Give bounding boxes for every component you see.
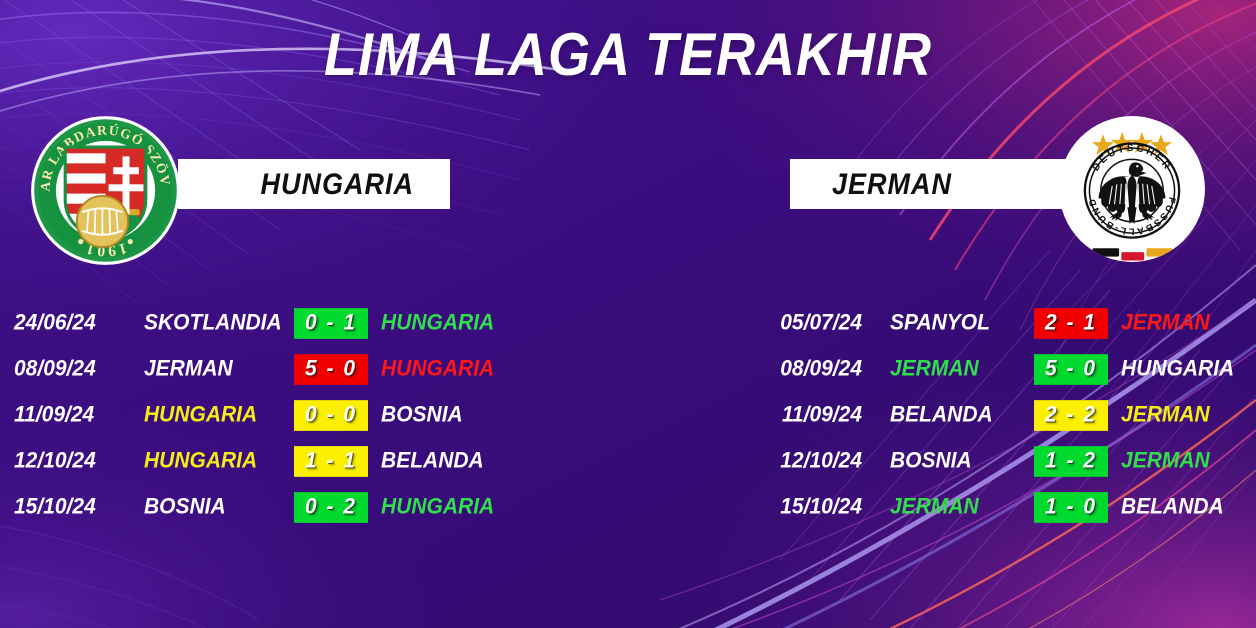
away-team: BELANDA (1108, 494, 1224, 519)
away-team: JERMAN (1108, 448, 1210, 473)
home-team: JERMAN (130, 356, 294, 381)
match-row: 12/10/24 HUNGARIA 1 - 1 BELANDA (14, 438, 574, 484)
match-list-left: 24/06/24 SKOTLANDIA 0 - 1 HUNGARIA 08/09… (14, 300, 574, 530)
match-row: 11/09/24 HUNGARIA 0 - 0 BOSNIA (14, 392, 574, 438)
score-badge: 5 - 0 (1034, 354, 1108, 385)
page-title: LIMA LAGA TERAKHIR (0, 20, 1256, 89)
away-team: BELANDA (368, 448, 484, 473)
away-team: BOSNIA (368, 402, 463, 427)
match-date: 08/09/24 (14, 356, 130, 381)
match-row: 15/10/24 BOSNIA 0 - 2 HUNGARIA (14, 484, 574, 530)
home-team: HUNGARIA (130, 448, 294, 473)
team-banner-left: HUNGARIA (178, 159, 450, 209)
home-team: JERMAN (876, 356, 1034, 381)
away-team: HUNGARIA (368, 356, 494, 381)
match-date: 11/09/24 (760, 402, 876, 427)
match-row: 24/06/24 SKOTLANDIA 0 - 1 HUNGARIA (14, 300, 574, 346)
score-badge: 1 - 2 (1034, 446, 1108, 477)
score-badge: 2 - 2 (1034, 400, 1108, 431)
team-banner-right: JERMAN (790, 159, 1070, 209)
match-date: 08/09/24 (760, 356, 876, 381)
home-team: BOSNIA (130, 494, 294, 519)
home-team: SKOTLANDIA (130, 310, 294, 335)
match-list-right: 05/07/24 SPANYOL 2 - 1 JERMAN 08/09/24 J… (760, 300, 1240, 530)
match-date: 24/06/24 (14, 310, 130, 335)
home-team: BOSNIA (876, 448, 1034, 473)
germany-dfb-crest-icon: DEUTSCHER FUSSBALL-BUND (1056, 113, 1208, 265)
match-date: 15/10/24 (760, 494, 876, 519)
match-row: 12/10/24 BOSNIA 1 - 2 JERMAN (760, 438, 1240, 484)
match-date: 05/07/24 (760, 310, 876, 335)
hungary-crest-icon: MAGYAR LABDARÚGÓ SZÖVETSÉG 1901 (28, 113, 183, 268)
away-team: JERMAN (1108, 310, 1210, 335)
home-team: HUNGARIA (130, 402, 294, 427)
away-team: HUNGARIA (368, 494, 494, 519)
match-date: 12/10/24 (14, 448, 130, 473)
match-date: 15/10/24 (14, 494, 130, 519)
match-date: 12/10/24 (760, 448, 876, 473)
match-row: 08/09/24 JERMAN 5 - 0 HUNGARIA (14, 346, 574, 392)
away-team: HUNGARIA (368, 310, 494, 335)
score-badge: 0 - 1 (294, 308, 368, 339)
score-badge: 5 - 0 (294, 354, 368, 385)
away-team: JERMAN (1108, 402, 1210, 427)
score-badge: 2 - 1 (1034, 308, 1108, 339)
match-row: 11/09/24 BELANDA 2 - 2 JERMAN (760, 392, 1240, 438)
team-name-right: JERMAN (832, 167, 952, 201)
match-row: 15/10/24 JERMAN 1 - 0 BELANDA (760, 484, 1240, 530)
home-team: JERMAN (876, 494, 1034, 519)
match-row: 08/09/24 JERMAN 5 - 0 HUNGARIA (760, 346, 1240, 392)
away-team: HUNGARIA (1108, 356, 1234, 381)
home-team: SPANYOL (876, 310, 1034, 335)
score-badge: 1 - 1 (294, 446, 368, 477)
team-name-left: HUNGARIA (261, 167, 415, 201)
match-date: 11/09/24 (14, 402, 130, 427)
score-badge: 1 - 0 (1034, 492, 1108, 523)
score-badge: 0 - 2 (294, 492, 368, 523)
match-row: 05/07/24 SPANYOL 2 - 1 JERMAN (760, 300, 1240, 346)
score-badge: 0 - 0 (294, 400, 368, 431)
home-team: BELANDA (876, 402, 1034, 427)
